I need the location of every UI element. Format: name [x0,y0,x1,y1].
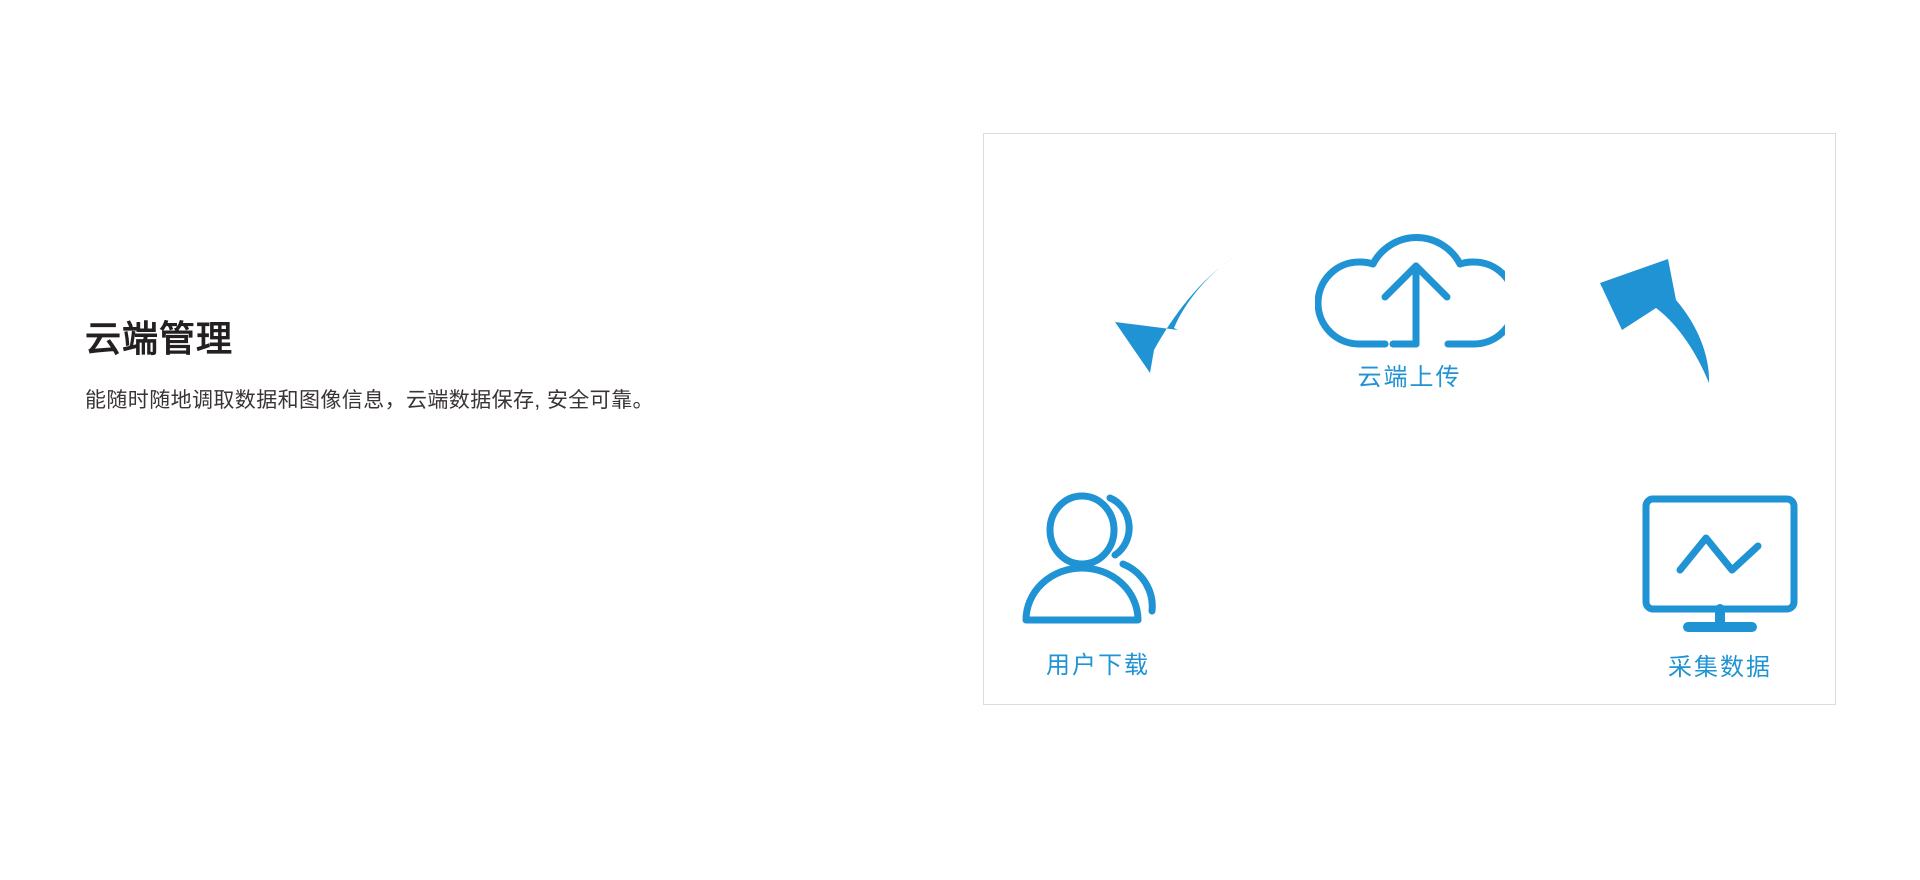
diagram-node-label-user-download: 用户下载 [1046,654,1150,678]
curved-arrow-down-left-icon [1112,252,1242,377]
users-icon [1018,492,1178,632]
feature-text-block: 云端管理 能随时随地调取数据和图像信息，云端数据保存, 安全可靠。 [85,318,785,417]
diagram-node-user-download[interactable]: 用户下载 [1018,492,1178,678]
page-title: 云端管理 [85,318,785,359]
diagram-node-label-cloud-upload: 云端上传 [1358,366,1462,390]
diagram-node-collect-data[interactable]: 采集数据 [1640,494,1800,680]
diagram-node-cloud-upload[interactable]: 云端上传 [1315,148,1505,390]
cloud-upload-icon [1315,148,1505,348]
diagram-node-label-collect-data: 采集数据 [1668,656,1772,680]
curved-arrow-up-left-icon [1590,256,1720,386]
monitor-chart-icon [1640,494,1800,634]
cloud-workflow-diagram: 云端上传 用户下载 [983,133,1836,705]
page-description: 能随时随地调取数据和图像信息，云端数据保存, 安全可靠。 [85,385,785,417]
